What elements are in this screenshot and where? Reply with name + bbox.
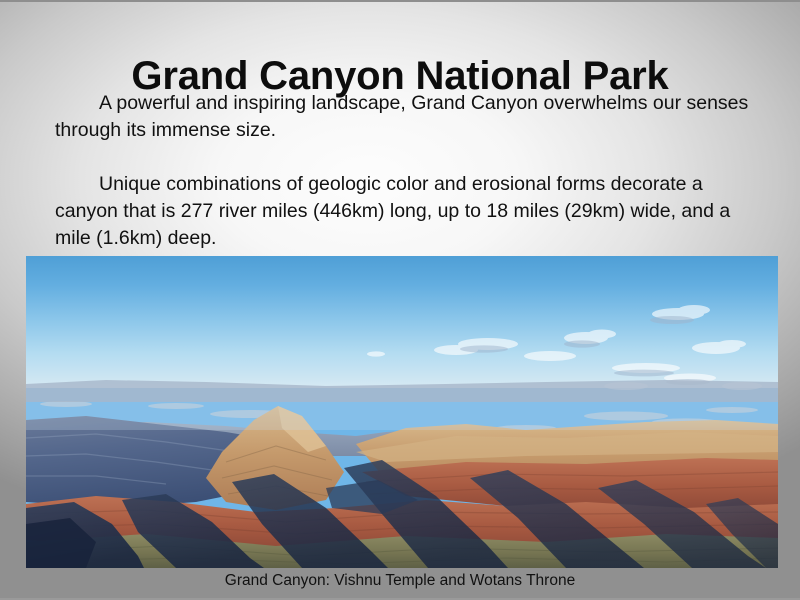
body-paragraph-1: A powerful and inspiring landscape, Gran…: [55, 90, 755, 144]
top-divider: [0, 0, 800, 2]
grand-canyon-illustration: [26, 256, 778, 568]
body-paragraph-2: Unique combinations of geologic color an…: [55, 171, 755, 252]
grand-canyon-photo: [26, 256, 778, 568]
slide-body-text: A powerful and inspiring landscape, Gran…: [55, 90, 755, 252]
presentation-slide: Grand Canyon National Park A powerful an…: [0, 0, 800, 600]
image-caption: Grand Canyon: Vishnu Temple and Wotans T…: [0, 570, 800, 592]
